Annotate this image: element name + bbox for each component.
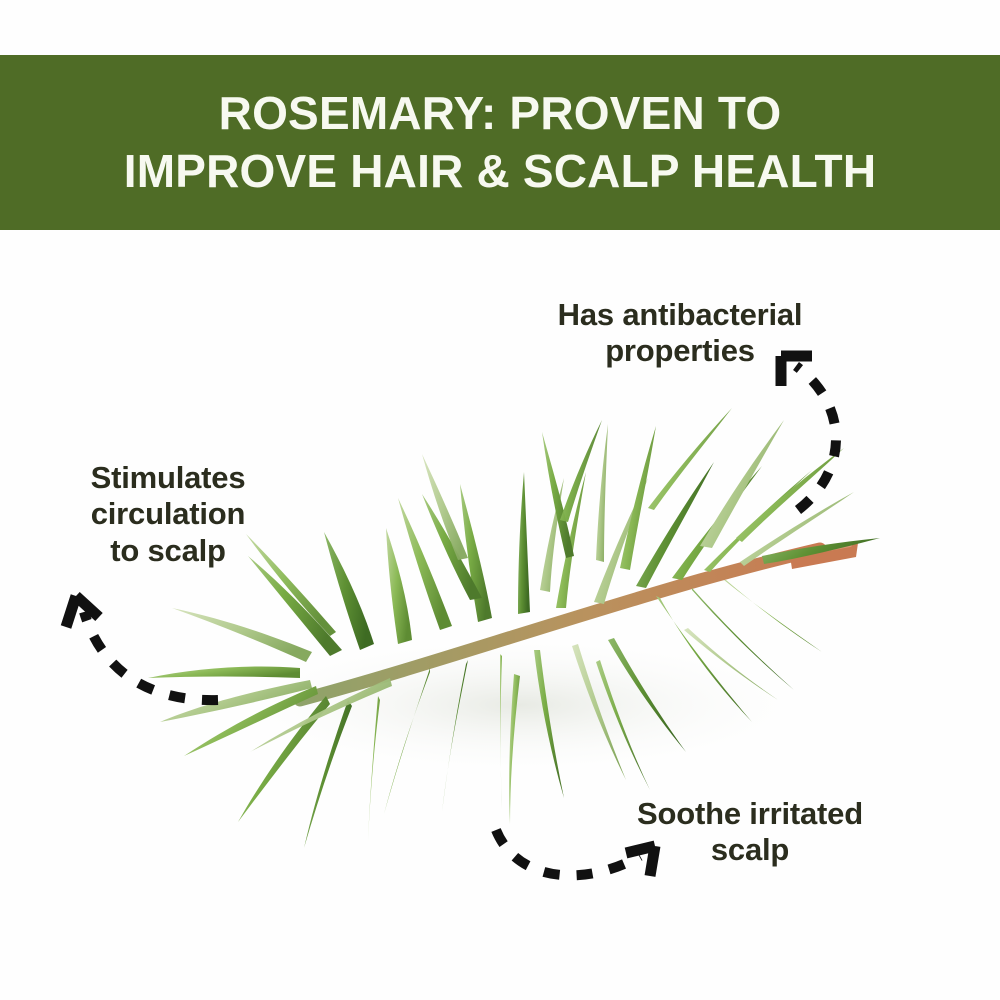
- callout-soothe: Soothe irritated scalp: [590, 796, 910, 869]
- infographic-canvas: ROSEMARY: PROVEN TO IMPROVE HAIR & SCALP…: [0, 0, 1000, 1000]
- callout-circulation: Stimulates circulation to scalp: [48, 460, 288, 569]
- callout-antibacterial: Has antibacterial properties: [500, 297, 860, 370]
